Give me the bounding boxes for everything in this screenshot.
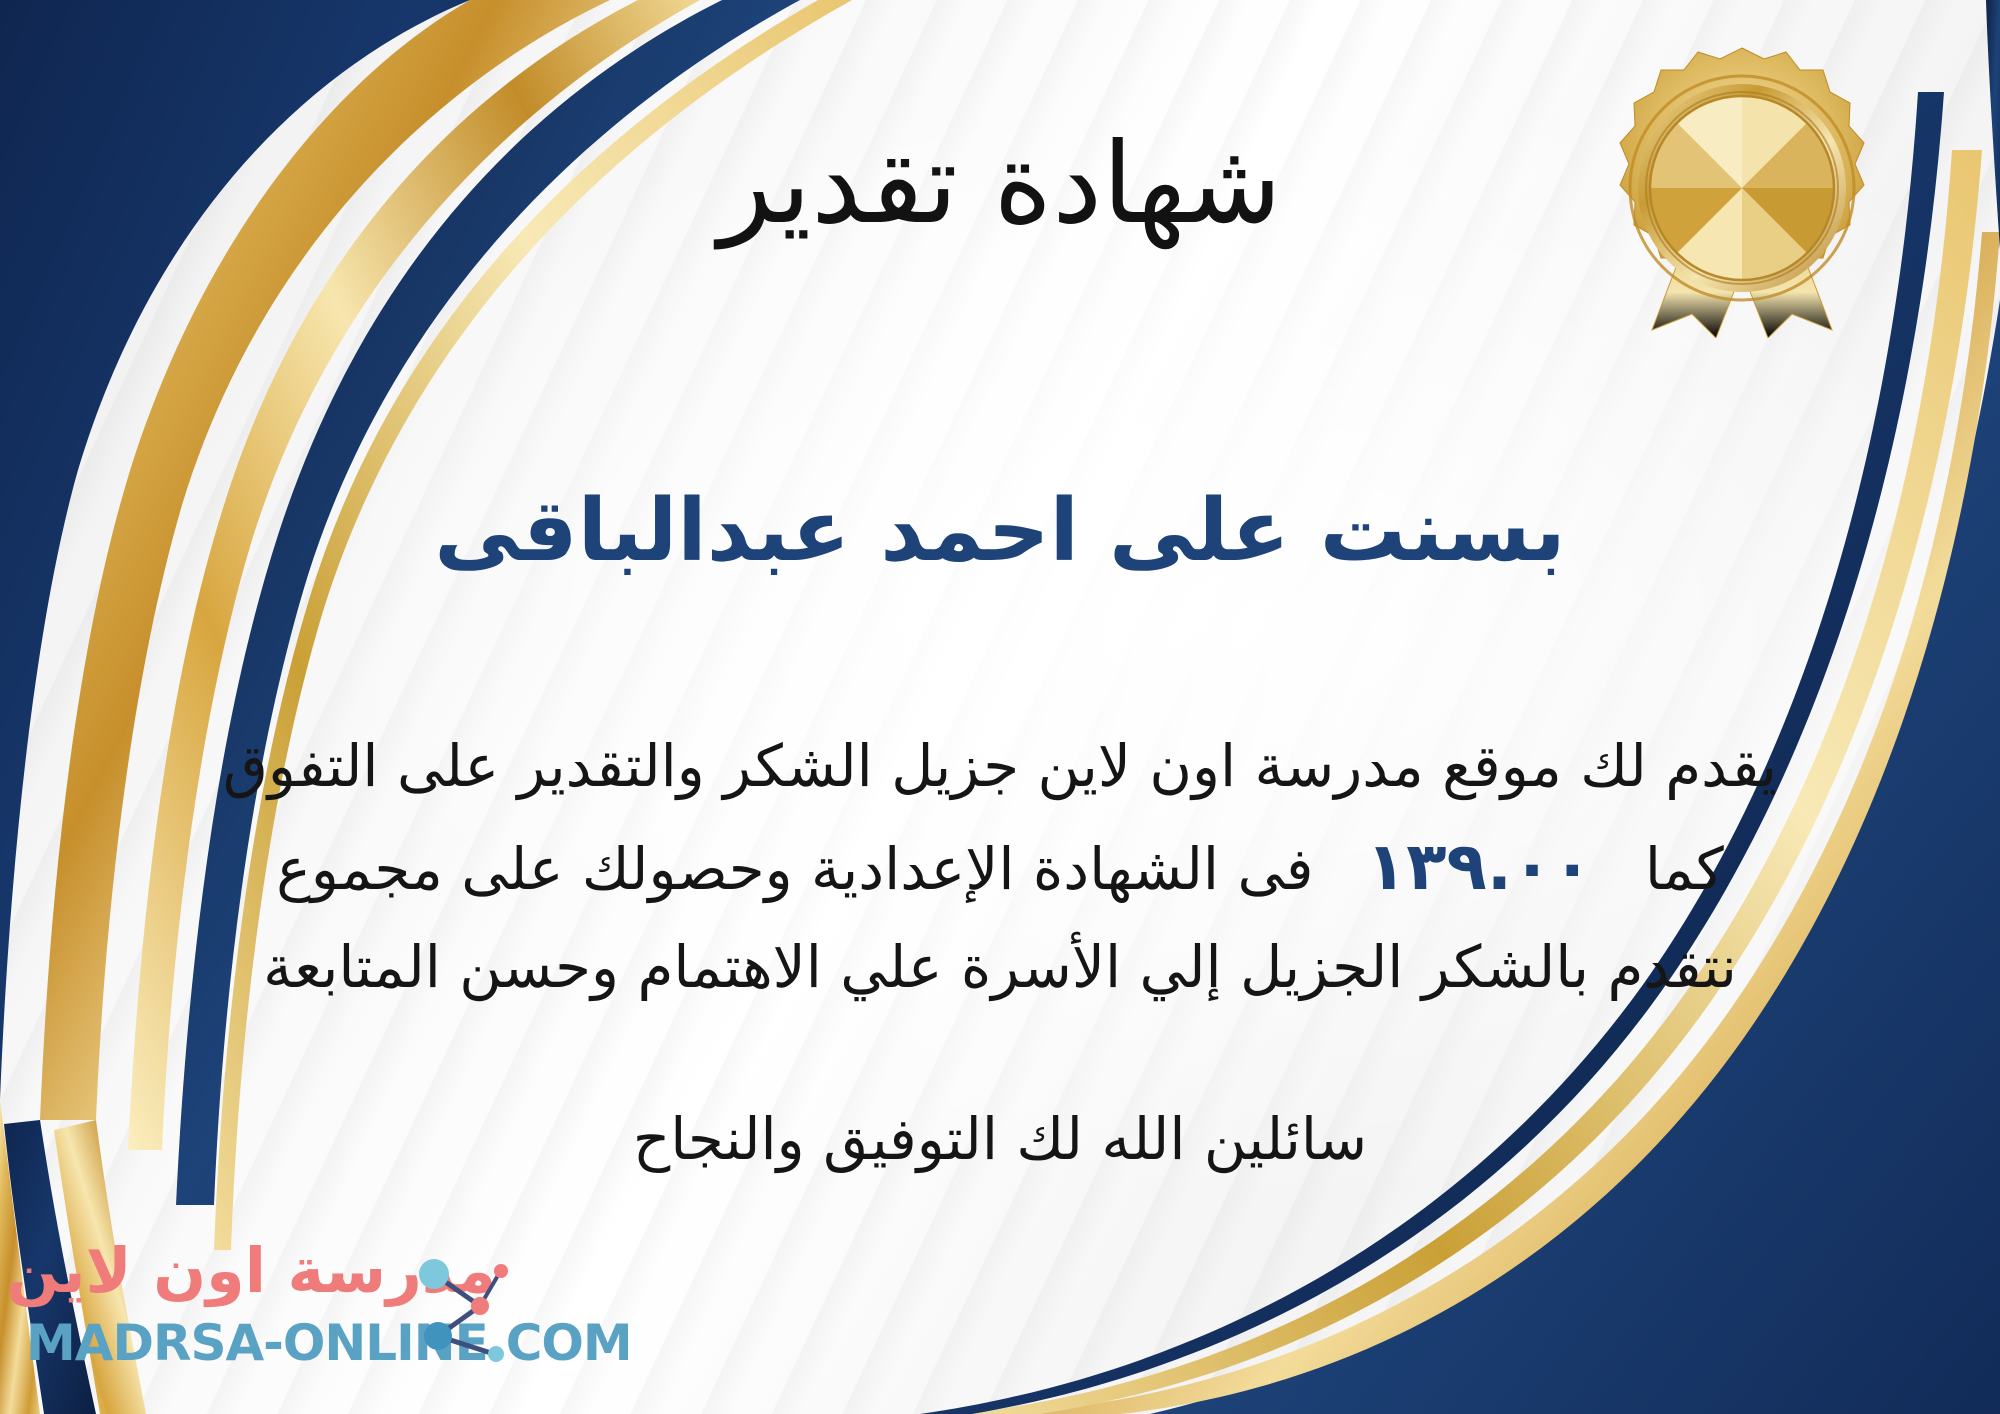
brand-logo[interactable]: مدرسة اون لاين MADRSA-ONLINE.COM [26,1240,496,1390]
body-line-2: كما ١٣٩.٠٠ فى الشهادة الإعدادية وحصولك ع… [90,814,1910,921]
certificate-page: شهادة تقدير بسنت على احمد عبدالباقى يقدم… [0,0,2000,1414]
closing-line: سائلين الله لك التوفيق والنجاح [0,1105,2000,1173]
certificate-body: يقدم لك موقع مدرسة اون لاين جزيل الشكر و… [90,720,1910,1015]
network-nodes-icon [408,1250,512,1370]
body-line-3: نتقدم بالشكر الجزيل إلي الأسرة علي الاهت… [90,921,1910,1015]
body-line-2-prefix: فى الشهادة الإعدادية وحصولك على مجموع [276,835,1313,903]
body-line-2-suffix: كما [1645,835,1724,903]
grade-value: ١٣٩.٠٠ [1332,828,1627,905]
certificate-content: شهادة تقدير بسنت على احمد عبدالباقى يقدم… [0,0,2000,1414]
recipient-name: بسنت على احمد عبدالباقى [0,480,2000,583]
page-title: شهادة تقدير [0,118,2000,250]
body-line-1: يقدم لك موقع مدرسة اون لاين جزيل الشكر و… [90,720,1910,814]
